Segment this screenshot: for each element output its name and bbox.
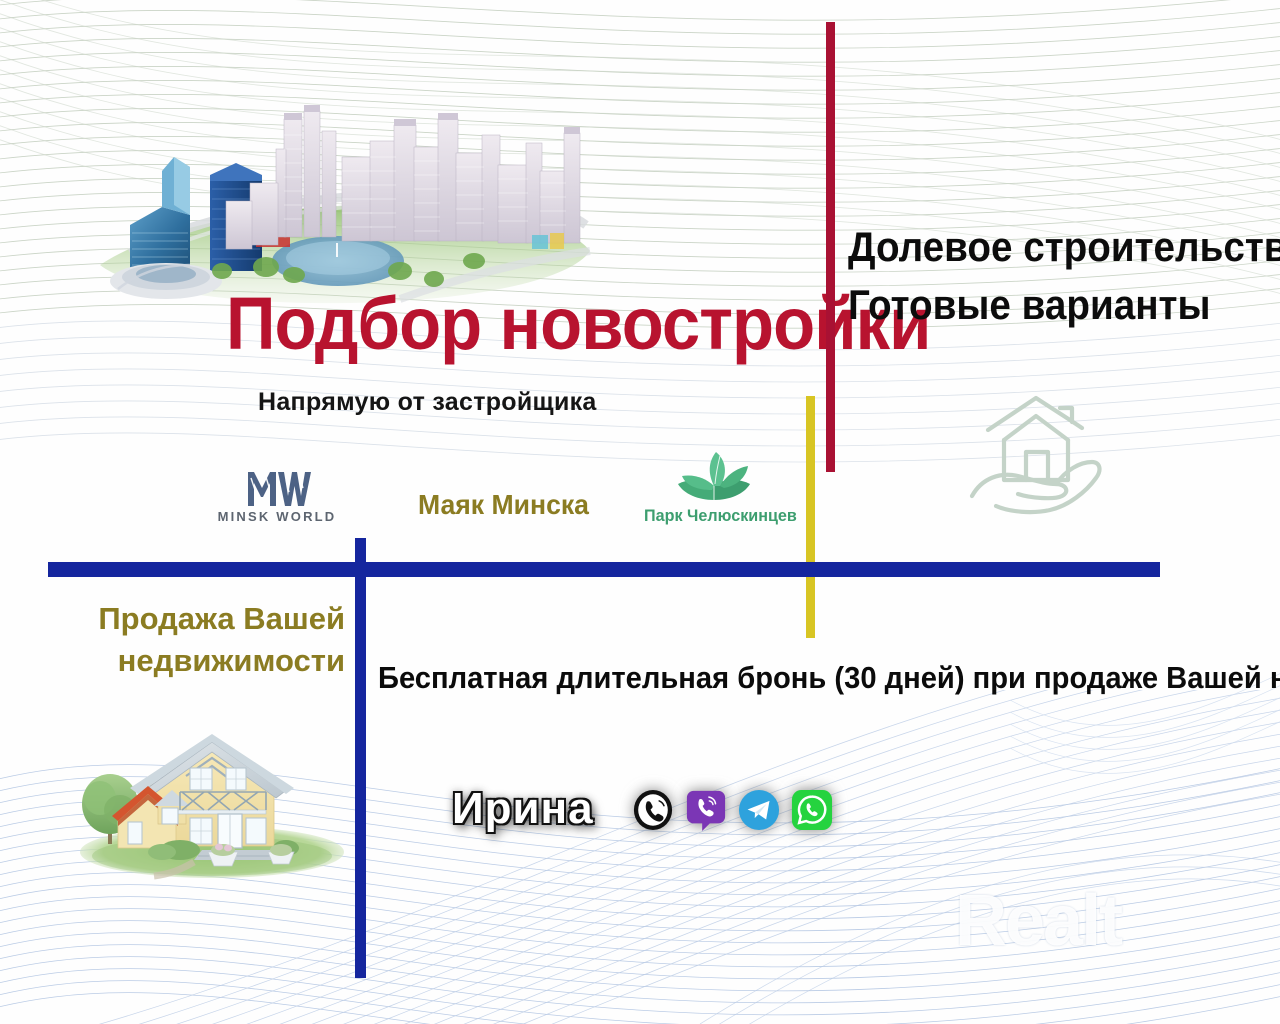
phone-icon[interactable] (632, 789, 674, 831)
sell-property-heading: Продажа Вашей недвижимости (60, 598, 345, 682)
sell-line-1: Продажа Вашей (60, 598, 345, 640)
offer-line-2: Готовые варианты (848, 276, 1280, 334)
whatsapp-icon[interactable] (791, 789, 833, 831)
telegram-icon[interactable] (738, 789, 780, 831)
poster-canvas: Realt (0, 0, 1280, 1024)
house-in-hand-icon (960, 392, 1120, 532)
partner-logo-park-chelyuskintsev[interactable]: Парк Челюскинцев (640, 448, 788, 526)
mw-monogram-icon (212, 466, 342, 508)
partner-name-minsk-world: MINSK WORLD (218, 509, 337, 524)
partner-logo-minsk-world[interactable]: MINSK WORLD (212, 466, 342, 526)
page-title: Подбор новостройки (226, 287, 931, 361)
minsk-cityscape-photo (70, 75, 600, 310)
divider-vertical-yellow (806, 396, 815, 638)
partner-name-park: Парк Челюскинцев (644, 506, 797, 526)
cottage-house-photo (62, 700, 362, 880)
offer-list: Долевое строительство Готовые варианты (848, 218, 1280, 334)
page-subtitle: Напрямую от застройщика (258, 388, 597, 417)
agent-name: Ирина (452, 784, 594, 834)
divider-vertical-red (826, 22, 835, 472)
divider-horizontal-blue (48, 562, 1160, 577)
contact-icons[interactable] (632, 789, 833, 831)
sell-line-2: недвижимости (60, 640, 345, 682)
partner-logo-mayak-minska[interactable]: Маяк Минска (418, 489, 589, 521)
realt-watermark: Realt (955, 880, 1121, 962)
promo-text: Бесплатная длительная бронь (30 дней) пр… (378, 660, 1280, 696)
offer-line-1: Долевое строительство (848, 218, 1280, 276)
viber-icon[interactable] (685, 789, 727, 831)
green-leaf-icon (640, 448, 788, 506)
